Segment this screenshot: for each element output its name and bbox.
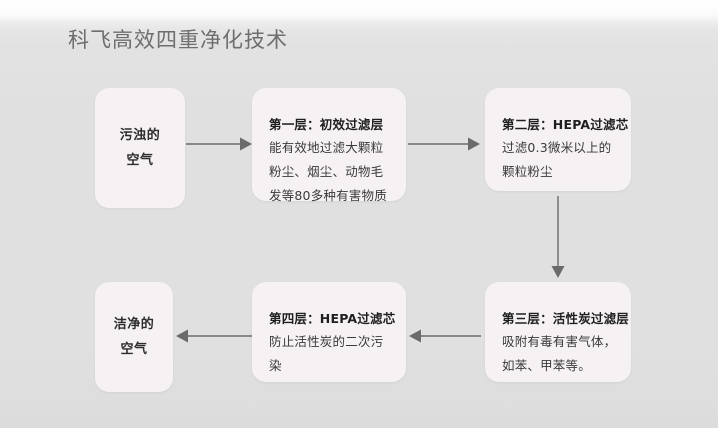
flow-node-clean-air[interactable]: 洁净的 空气: [95, 282, 173, 392]
node-body: 能有效地过滤大颗粒粉尘、烟尘、动物毛发等80多种有害物质: [269, 136, 406, 208]
node-body: 过滤0.3微米以上的颗粒粉尘: [502, 136, 631, 184]
flow-node-layer-2[interactable]: 第二层：HEPA过滤芯 过滤0.3微米以上的颗粒粉尘: [485, 88, 631, 191]
connector-layer-1-to-layer-2: [408, 134, 480, 154]
connector-layer-3-to-layer-4: [409, 326, 481, 346]
flow-node-layer-1[interactable]: 第一层：初效过滤层 能有效地过滤大颗粒粉尘、烟尘、动物毛发等80多种有害物质: [252, 88, 406, 201]
connector-layer-4-to-clean-air: [176, 326, 252, 346]
connector-dirty-air-to-layer-1: [186, 134, 252, 154]
page-title: 科飞高效四重净化技术: [68, 24, 288, 54]
node-heading: 第一层：初效过滤层: [269, 114, 406, 136]
connector-layer-2-to-layer-3: [548, 196, 568, 278]
flow-node-dirty-air[interactable]: 污浊的 空气: [95, 88, 185, 208]
node-heading: 第二层：HEPA过滤芯: [502, 114, 631, 136]
node-body: 吸附有毒有害气体，如苯、甲苯等。: [502, 330, 631, 378]
node-body: 防止活性炭的二次污染: [269, 330, 406, 378]
background-sheen: [0, 0, 718, 22]
flow-node-layer-4[interactable]: 第四层：HEPA过滤芯 防止活性炭的二次污染: [252, 282, 406, 382]
node-label-line: 污浊的: [120, 123, 161, 148]
node-heading: 第四层：HEPA过滤芯: [269, 308, 406, 330]
node-label-line: 空气: [120, 337, 147, 362]
node-label-line: 空气: [126, 148, 153, 173]
node-label-line: 洁净的: [114, 312, 155, 337]
flow-node-layer-3[interactable]: 第三层：活性炭过滤层 吸附有毒有害气体，如苯、甲苯等。: [485, 282, 631, 382]
node-heading: 第三层：活性炭过滤层: [502, 308, 631, 330]
diagram-canvas: 科飞高效四重净化技术 污浊的 空气 第一层：初效过滤层 能有效地过滤大颗粒粉尘、…: [0, 0, 718, 428]
